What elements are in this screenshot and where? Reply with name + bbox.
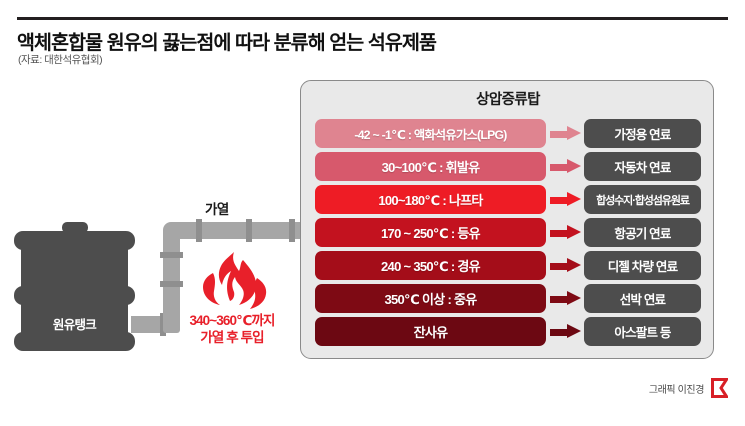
flame-caption: 340~360℃까지 가열 후 투입: [168, 312, 296, 346]
fraction-row: 240 ~ 350℃ : 경유디젤 차량 연료: [301, 251, 715, 280]
product-box[interactable]: 합성수지·합성섬유원료: [584, 185, 701, 214]
fraction-arrow-icon: [550, 192, 582, 207]
product-box[interactable]: 선박 연료: [584, 284, 701, 313]
tank-rib-bottom: [14, 332, 135, 351]
fraction-bar[interactable]: 잔사유: [315, 317, 546, 346]
fraction-row: 잔사유아스팔트 등: [301, 317, 715, 346]
fraction-row: -42 ~ -1℃ : 액화석유가스(LPG)가정용 연료: [301, 119, 715, 148]
product-box[interactable]: 가정용 연료: [584, 119, 701, 148]
arrow-shaft: [550, 230, 568, 237]
panel-title: 상압증류탑: [301, 88, 715, 109]
credit-text: 그래픽 이진경: [649, 381, 704, 396]
fraction-row: 30~100℃ : 휘발유자동차 연료: [301, 152, 715, 181]
flame-caption-line2: 가열 후 투입: [200, 330, 263, 345]
fraction-arrow-icon: [550, 126, 582, 141]
tank-label: 원유탱크: [14, 314, 135, 333]
product-box[interactable]: 아스팔트 등: [584, 317, 701, 346]
pipe-flange-f: [289, 219, 295, 242]
arrow-shaft: [550, 296, 568, 303]
arrow-shaft: [550, 197, 568, 204]
logo-flag-icon: [711, 378, 728, 398]
product-box[interactable]: 디젤 차량 연료: [584, 251, 701, 280]
fraction-row: 170 ~ 250℃ : 등유항공기 연료: [301, 218, 715, 247]
crude-oil-tank: 원유탱크: [14, 222, 144, 350]
pipe-flange-b: [160, 281, 183, 287]
header-rule: [17, 17, 728, 20]
flame-caption-line1: 340~360℃까지: [189, 313, 274, 328]
pipe-flange-c: [160, 252, 183, 258]
arrow-head: [567, 126, 581, 140]
heat-label: 가열: [205, 198, 229, 218]
distillation-column-panel: 상압증류탑 -42 ~ -1℃ : 액화석유가스(LPG)가정용 연료30~10…: [300, 80, 714, 359]
fraction-arrow-icon: [550, 291, 582, 306]
pipe-flange-d: [196, 219, 202, 242]
fraction-row: 350℃ 이상 : 중유선박 연료: [301, 284, 715, 313]
arrow-shaft: [550, 329, 568, 336]
flame-icon: [199, 252, 269, 315]
page-title: 액체혼합물 원유의 끓는점에 따라 분류해 얻는 석유제품: [17, 26, 707, 55]
fraction-bar[interactable]: 350℃ 이상 : 중유: [315, 284, 546, 313]
fraction-bar[interactable]: 240 ~ 350℃ : 경유: [315, 251, 546, 280]
arrow-head: [567, 192, 581, 206]
fraction-arrow-icon: [550, 324, 582, 339]
product-box[interactable]: 항공기 연료: [584, 218, 701, 247]
arrow-head: [567, 159, 581, 173]
source-note: (자료: 대한석유협회): [18, 52, 102, 67]
arrow-shaft: [550, 164, 568, 171]
fraction-arrow-icon: [550, 225, 582, 240]
arrow-head: [567, 258, 581, 272]
product-box[interactable]: 자동차 연료: [584, 152, 701, 181]
credit: 그래픽 이진경: [649, 378, 728, 398]
fraction-arrow-icon: [550, 258, 582, 273]
pipe-flange-e: [246, 219, 252, 242]
fraction-bar[interactable]: -42 ~ -1℃ : 액화석유가스(LPG): [315, 119, 546, 148]
fraction-arrow-icon: [550, 159, 582, 174]
tank-body-upper: [21, 242, 128, 292]
arrow-shaft: [550, 131, 568, 138]
arrow-shaft: [550, 263, 568, 270]
fraction-row: 100~180℃ : 나프타합성수지·합성섬유원료: [301, 185, 715, 214]
fraction-bar[interactable]: 30~100℃ : 휘발유: [315, 152, 546, 181]
arrow-head: [567, 225, 581, 239]
fraction-bar[interactable]: 170 ~ 250℃ : 등유: [315, 218, 546, 247]
fraction-bar[interactable]: 100~180℃ : 나프타: [315, 185, 546, 214]
arrow-head: [567, 291, 581, 305]
arrow-head: [567, 324, 581, 338]
